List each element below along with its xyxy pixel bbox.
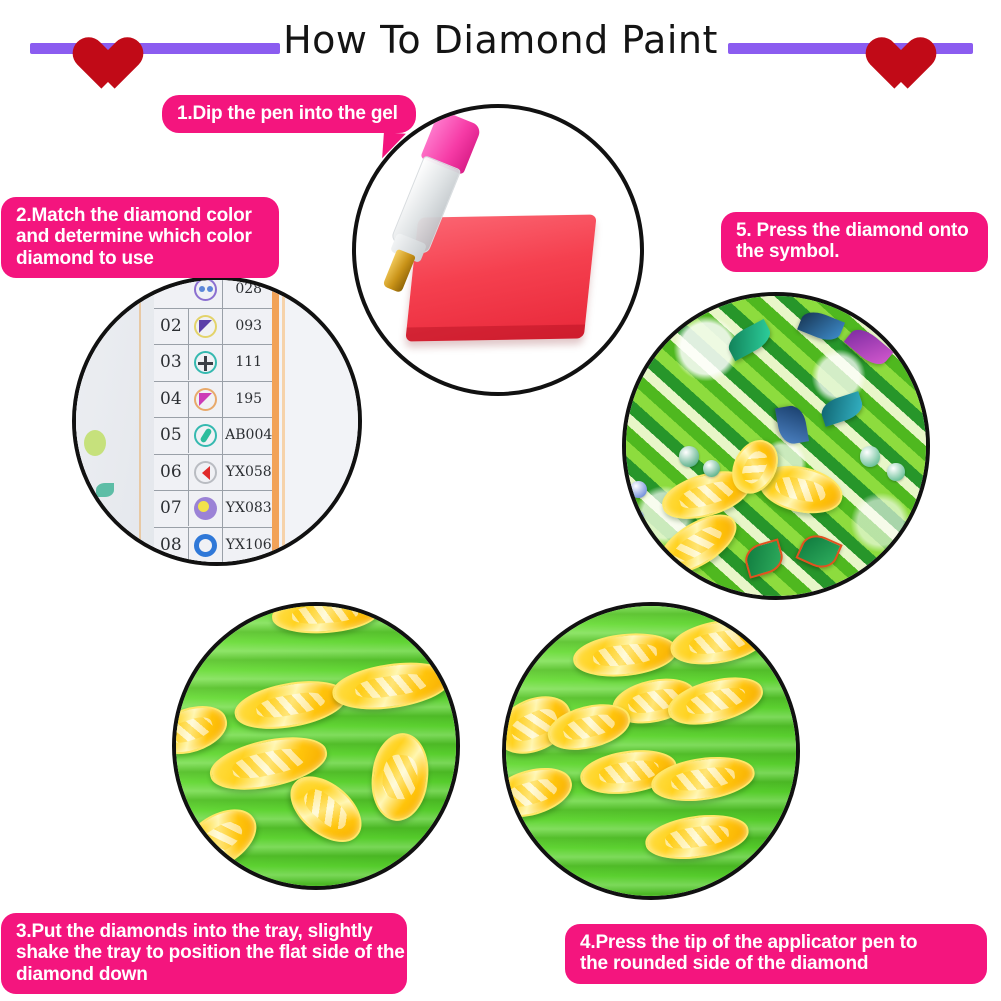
row-symbol-cell bbox=[189, 455, 224, 491]
table-row: 09YX125 bbox=[154, 564, 274, 566]
triangle-glyph bbox=[199, 320, 212, 333]
pen-body bbox=[622, 292, 664, 356]
step-3-label: 3.Put the diamonds into the tray, slight… bbox=[2, 914, 406, 993]
table-row: 03111 bbox=[154, 345, 274, 382]
table-row: 05AB004 bbox=[154, 418, 274, 455]
row-symbol-cell bbox=[189, 491, 224, 527]
step-4-label: 4.Press the tip of the applicator pen to… bbox=[566, 925, 986, 983]
step-4-line-2: the rounded side of the diamond bbox=[580, 953, 972, 974]
diamond bbox=[271, 602, 380, 637]
row-color-code: YX106 bbox=[223, 528, 274, 563]
diamond bbox=[368, 731, 433, 824]
page-header: How To Diamond Paint bbox=[0, 0, 1001, 88]
triangle-icon bbox=[194, 315, 217, 338]
triangle-glyph bbox=[199, 393, 212, 406]
step-5-line-1: 5. Press the diamond onto bbox=[736, 220, 973, 241]
row-color-code: YX125 bbox=[223, 564, 274, 566]
color-symbol-table: 02802093031110419505AB00406YX05807YX0830… bbox=[154, 276, 274, 566]
step-1-label: 1.Dip the pen into the gel bbox=[163, 96, 415, 132]
label-1-pointer bbox=[382, 132, 406, 159]
step-2-line-2: and determine which color bbox=[16, 226, 264, 247]
row-symbol-cell bbox=[189, 564, 224, 566]
step-4-image bbox=[502, 602, 800, 900]
row-color-code: 028 bbox=[223, 276, 274, 307]
table-row: 028 bbox=[154, 276, 274, 309]
chart-background: 02802093031110419505AB00406YX05807YX0830… bbox=[76, 280, 358, 562]
placed-gem bbox=[797, 307, 845, 345]
row-symbol-cell bbox=[189, 345, 224, 381]
step-5-image bbox=[622, 292, 930, 600]
diamond bbox=[172, 797, 267, 883]
diamond bbox=[231, 674, 350, 737]
canvas-symbol bbox=[741, 539, 786, 580]
pen-tip bbox=[382, 249, 416, 294]
canvas-mark bbox=[96, 483, 114, 497]
slash-glyph bbox=[200, 428, 213, 444]
canvas-symbol bbox=[796, 530, 844, 574]
dot-glyph bbox=[199, 286, 205, 292]
table-row: 08YX106 bbox=[154, 528, 274, 565]
step-2-image: 02802093031110419505AB00406YX05807YX0830… bbox=[72, 276, 362, 566]
step-3-line-1: 3.Put the diamonds into the tray, slight… bbox=[16, 921, 392, 942]
placed-gem bbox=[775, 404, 809, 447]
ring-icon bbox=[194, 534, 217, 557]
row-number: 05 bbox=[154, 418, 189, 453]
chevron-glyph bbox=[202, 466, 210, 480]
step-2-line-3: diamond to use bbox=[16, 248, 264, 269]
page-title: How To Diamond Paint bbox=[0, 18, 1001, 62]
row-number: 09 bbox=[154, 564, 189, 566]
diamond bbox=[571, 629, 679, 682]
step-2-label: 2.Match the diamond color and determine … bbox=[2, 198, 278, 277]
table-row: 07YX083 bbox=[154, 491, 274, 528]
row-number: 07 bbox=[154, 491, 189, 526]
slash-bar-icon bbox=[194, 424, 217, 447]
diamond bbox=[329, 656, 453, 716]
step-5-line-2: the symbol. bbox=[736, 241, 973, 262]
placed-gem bbox=[843, 323, 893, 371]
row-number: 03 bbox=[154, 345, 189, 380]
canvas-dot bbox=[887, 463, 904, 480]
mosaic-canvas bbox=[622, 292, 930, 600]
row-number: 06 bbox=[154, 455, 189, 490]
row-number: 08 bbox=[154, 528, 189, 563]
double-dot-icon bbox=[194, 278, 217, 301]
dot-glyph bbox=[207, 286, 213, 292]
row-symbol-cell bbox=[189, 418, 224, 454]
row-number: 02 bbox=[154, 309, 189, 344]
table-row: 04195 bbox=[154, 382, 274, 419]
table-row: 02093 bbox=[154, 309, 274, 346]
diamond bbox=[642, 809, 751, 865]
row-symbol-cell bbox=[189, 276, 224, 308]
step-1-line-1: 1.Dip the pen into the gel bbox=[177, 103, 401, 124]
plus-icon bbox=[194, 351, 217, 374]
chevron-icon bbox=[194, 461, 217, 484]
row-symbol-cell bbox=[189, 528, 224, 564]
canvas-dot bbox=[630, 481, 647, 498]
step-3-line-2: shake the tray to position the flat side… bbox=[16, 942, 392, 963]
table-row: 06YX058 bbox=[154, 455, 274, 492]
canvas-mark bbox=[88, 340, 98, 350]
canvas-edge-stripe-light bbox=[282, 280, 285, 562]
diamond-tray bbox=[502, 602, 800, 900]
row-color-code: YX058 bbox=[223, 455, 274, 490]
row-symbol-cell bbox=[189, 382, 224, 418]
row-color-code: 093 bbox=[223, 309, 274, 344]
canvas-dot bbox=[626, 509, 643, 526]
step-5-label: 5. Press the diamond onto the symbol. bbox=[722, 213, 987, 271]
dot-icon bbox=[194, 497, 217, 520]
step-2-line-1: 2.Match the diamond color bbox=[16, 205, 264, 226]
diamond bbox=[502, 760, 578, 827]
plus-bar-v bbox=[204, 356, 207, 371]
canvas-area bbox=[76, 280, 154, 562]
row-color-code: AB004 bbox=[223, 418, 274, 453]
diamond-tray bbox=[172, 602, 460, 890]
canvas-mark bbox=[84, 430, 106, 456]
placed-gem bbox=[724, 318, 775, 361]
diamond bbox=[668, 613, 771, 671]
canvas-dot bbox=[679, 446, 700, 467]
diamond bbox=[664, 668, 769, 733]
row-color-code: YX083 bbox=[223, 491, 274, 526]
placed-gem bbox=[818, 391, 865, 427]
step-3-image bbox=[172, 602, 460, 890]
step-4-line-1: 4.Press the tip of the applicator pen to bbox=[580, 932, 972, 953]
canvas-guide-line bbox=[139, 280, 141, 562]
applicator-pen bbox=[622, 292, 685, 409]
step-3-line-3: diamond down bbox=[16, 964, 392, 985]
row-color-code: 111 bbox=[223, 345, 274, 380]
diamond bbox=[172, 698, 233, 763]
canvas-dot bbox=[860, 446, 881, 467]
row-symbol-cell bbox=[189, 309, 224, 345]
row-number: 04 bbox=[154, 382, 189, 417]
canvas-edge-stripe bbox=[272, 280, 279, 562]
dot-glyph bbox=[198, 501, 209, 512]
triangle-icon bbox=[194, 388, 217, 411]
row-color-code: 195 bbox=[223, 382, 274, 417]
